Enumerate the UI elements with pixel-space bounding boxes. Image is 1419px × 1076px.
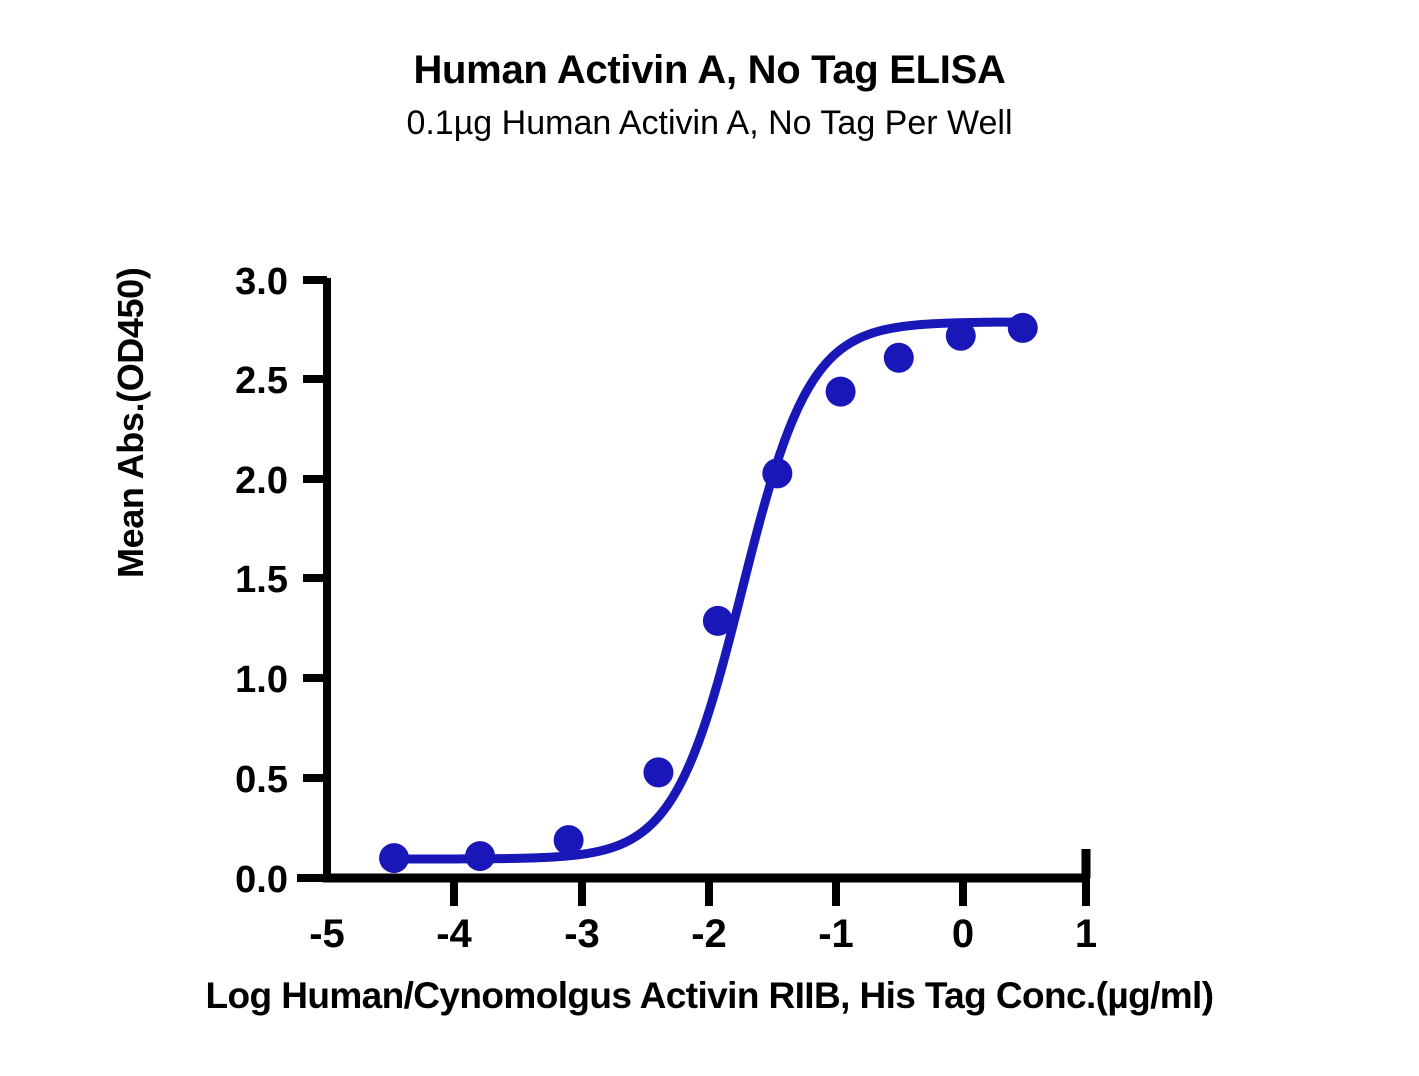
x-tick-label: 0 [952, 912, 974, 956]
x-tick-labels: -5 -4 -3 -2 -1 0 1 [309, 912, 1097, 956]
data-point [1008, 313, 1038, 343]
data-point [643, 757, 673, 787]
data-point-group [379, 313, 1038, 873]
y-tick-marks [297, 280, 327, 878]
x-tick-label: -1 [818, 912, 854, 956]
data-point [762, 458, 792, 488]
y-tick-label: 0.5 [235, 759, 288, 801]
data-point [554, 825, 584, 855]
y-tick-label: 1.0 [235, 659, 288, 701]
x-axis-label: Log Human/Cynomolgus Activin RIIB, His T… [0, 975, 1419, 1017]
data-point [703, 606, 733, 636]
x-tick-label: -5 [309, 912, 345, 956]
data-point [465, 841, 495, 871]
x-tick-label: -3 [564, 912, 600, 956]
y-tick-label: 0.0 [235, 859, 288, 901]
data-point [379, 843, 409, 873]
x-tick-label: -2 [691, 912, 727, 956]
data-point [884, 343, 914, 373]
elisa-chart-figure: Human Activin A, No Tag ELISA 0.1µg Huma… [0, 0, 1419, 1076]
y-tick-label: 2.0 [235, 460, 288, 502]
data-point [826, 377, 856, 407]
y-tick-label: 1.5 [235, 559, 288, 601]
y-tick-label: 2.5 [235, 360, 288, 402]
sigmoid-fit-curve [386, 322, 1025, 859]
y-tick-labels: 0.0 0.5 1.0 1.5 2.0 2.5 3.0 [235, 261, 288, 901]
x-tick-label: -4 [436, 912, 472, 956]
x-tick-label: 1 [1075, 912, 1097, 956]
y-tick-label: 3.0 [235, 261, 288, 303]
data-point [946, 321, 976, 351]
plot-area: 0.0 0.5 1.0 1.5 2.0 2.5 3.0 -5 -4 -3 -2 … [0, 0, 1419, 1076]
